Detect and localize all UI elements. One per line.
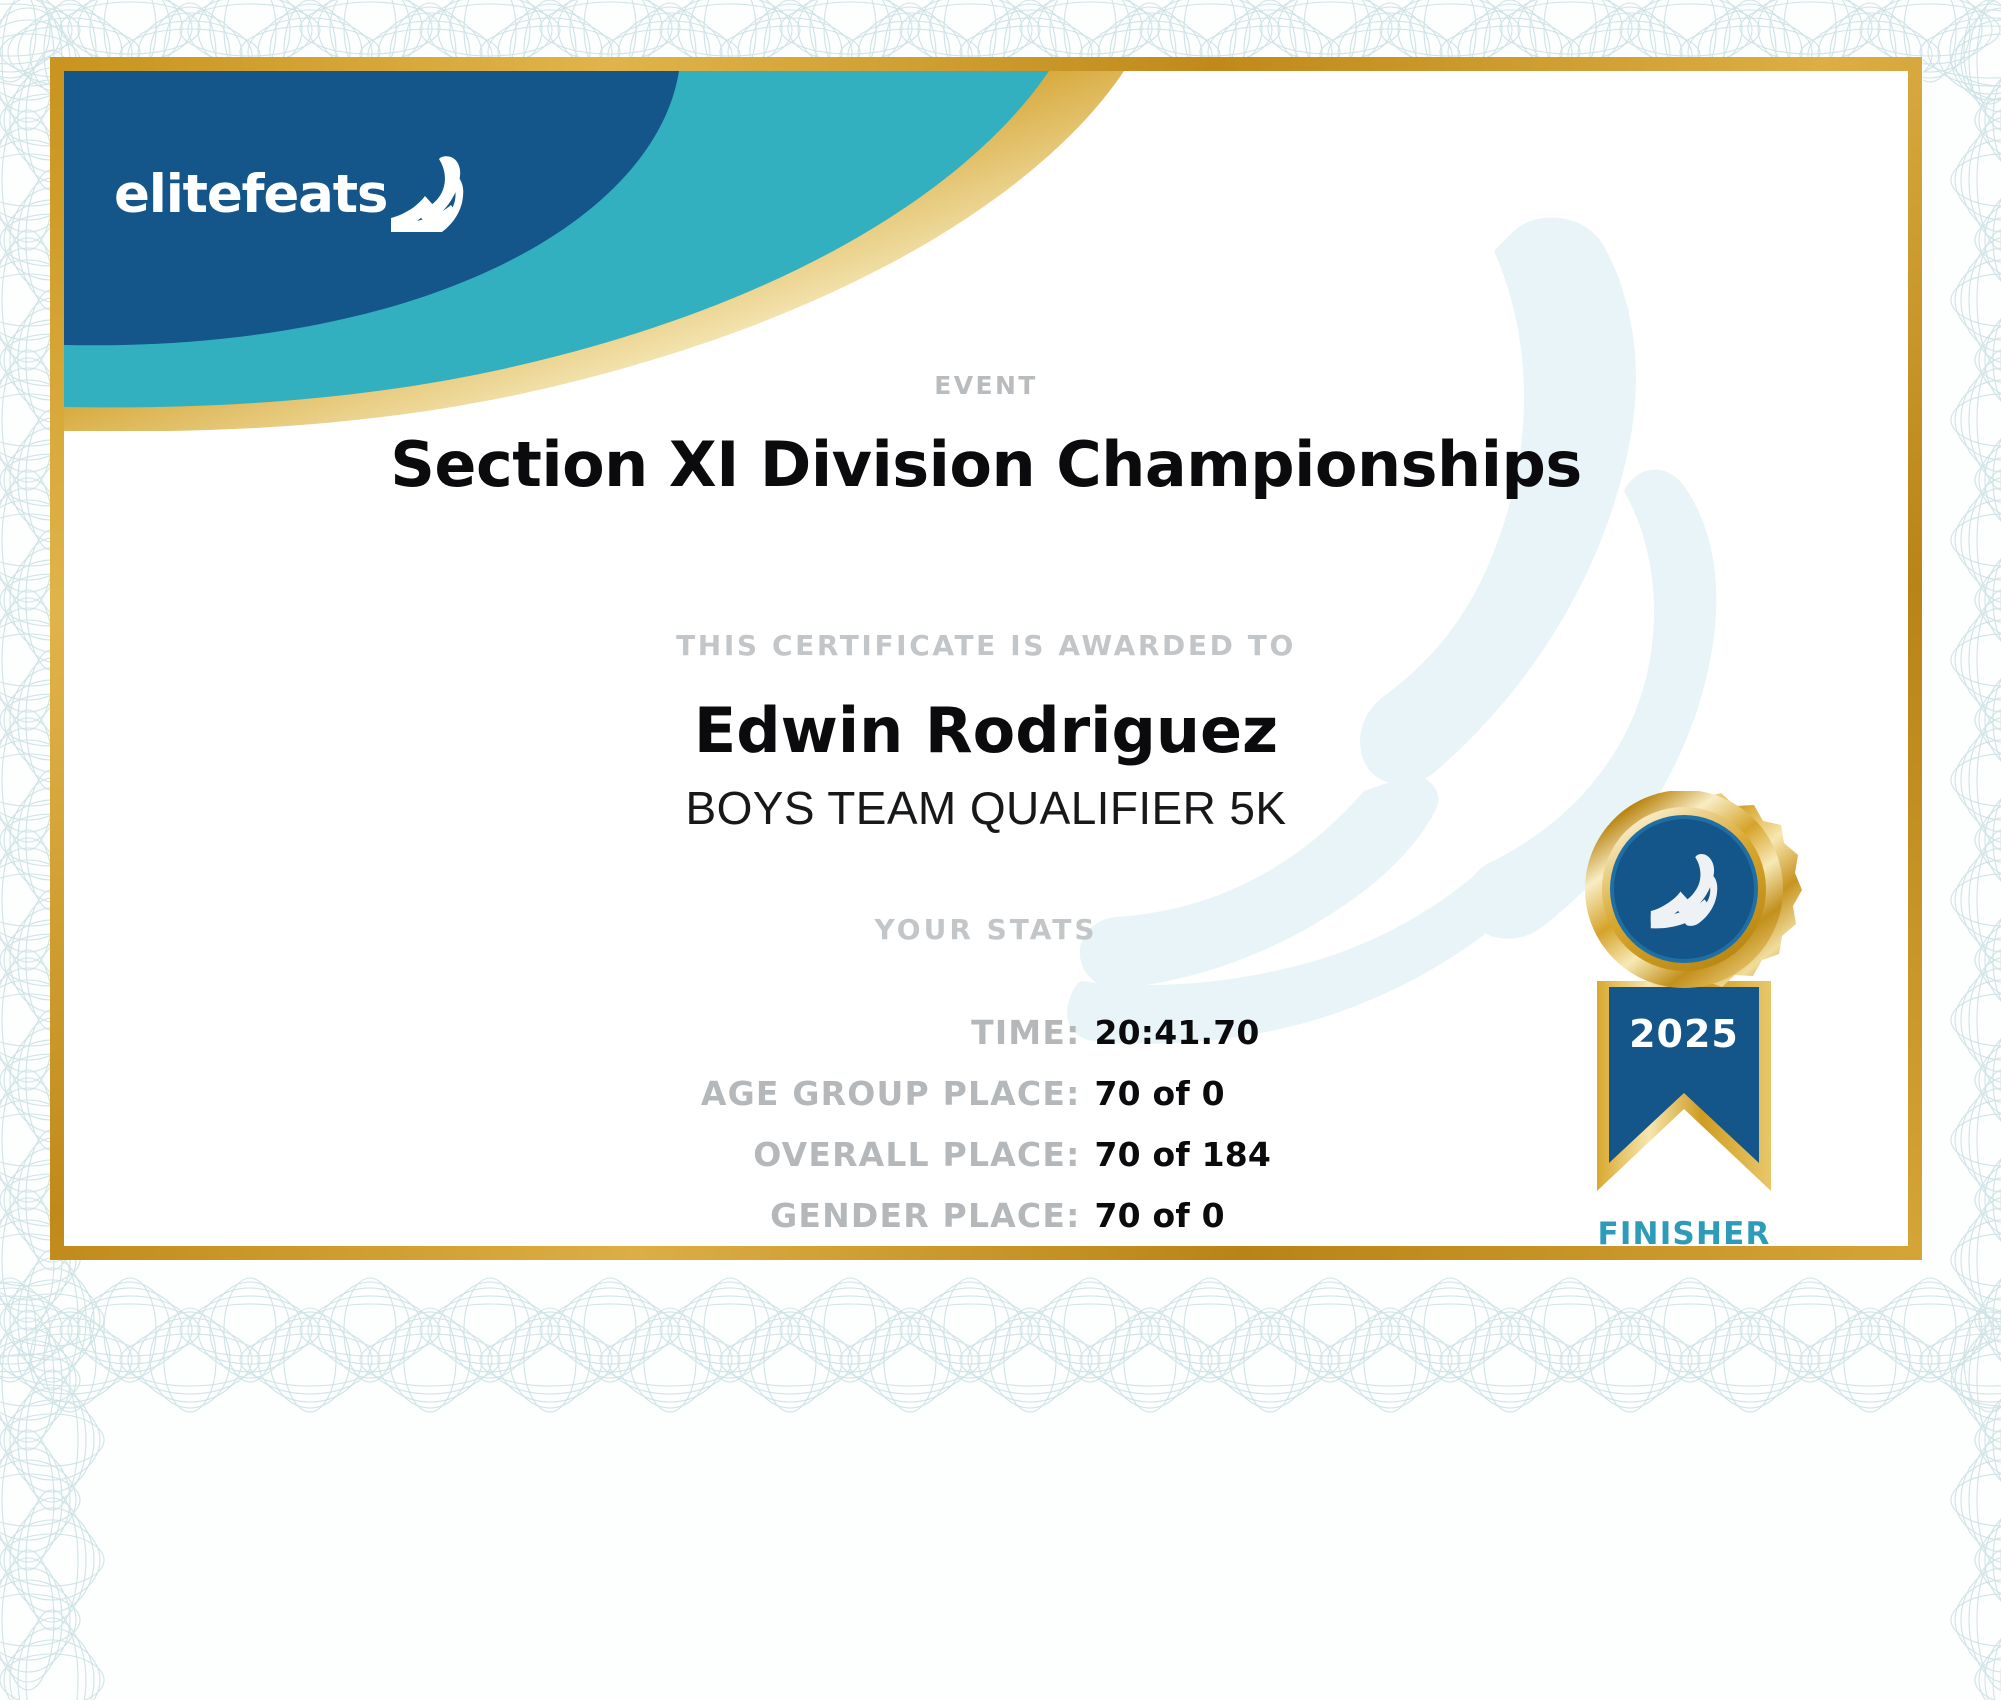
certificate-body: elitefeats EVENT Section XI Division Cha…	[64, 71, 1908, 1246]
stat-key-overall-place: OVERALL PLACE:	[701, 1124, 1095, 1185]
stat-value-gender-place: 70 of 0	[1094, 1185, 1271, 1246]
table-row: AGE GROUP PLACE: 70 of 0	[701, 1063, 1271, 1124]
stat-key-age-group-place: AGE GROUP PLACE:	[701, 1063, 1095, 1124]
svg-text:2025: 2025	[1629, 1012, 1739, 1056]
medal-caption: FINISHER CERTIFICATE	[1519, 1217, 1849, 1246]
stat-key-gender-place: GENDER PLACE:	[701, 1185, 1095, 1246]
table-row: TIME: 20:41.70	[701, 1002, 1271, 1063]
recipient-name: Edwin Rodriguez	[64, 694, 1908, 767]
medal-graphic: 2025	[1519, 791, 1849, 1221]
stat-value-overall-place: 70 of 184	[1094, 1124, 1271, 1185]
stat-value-age-group-place: 70 of 0	[1094, 1063, 1271, 1124]
table-row: OVERALL PLACE: 70 of 184	[701, 1124, 1271, 1185]
stat-value-time: 20:41.70	[1094, 1002, 1271, 1063]
certificate-page: elitefeats EVENT Section XI Division Cha…	[0, 0, 2001, 1700]
medal-caption-line1: FINISHER	[1519, 1217, 1849, 1246]
winged-foot-icon	[391, 156, 465, 232]
event-title: Section XI Division Championships	[64, 428, 1908, 501]
event-label: EVENT	[64, 371, 1908, 400]
stat-key-time: TIME:	[701, 1002, 1095, 1063]
awarded-to-label: THIS CERTIFICATE IS AWARDED TO	[64, 629, 1908, 662]
finisher-medal-badge: 2025 FINI	[1519, 791, 1849, 1246]
stats-table: TIME: 20:41.70 AGE GROUP PLACE: 70 of 0 …	[701, 1002, 1271, 1246]
brand-logo: elitefeats	[114, 156, 465, 232]
table-row: GENDER PLACE: 70 of 0	[701, 1185, 1271, 1246]
brand-name: elitefeats	[114, 168, 387, 221]
